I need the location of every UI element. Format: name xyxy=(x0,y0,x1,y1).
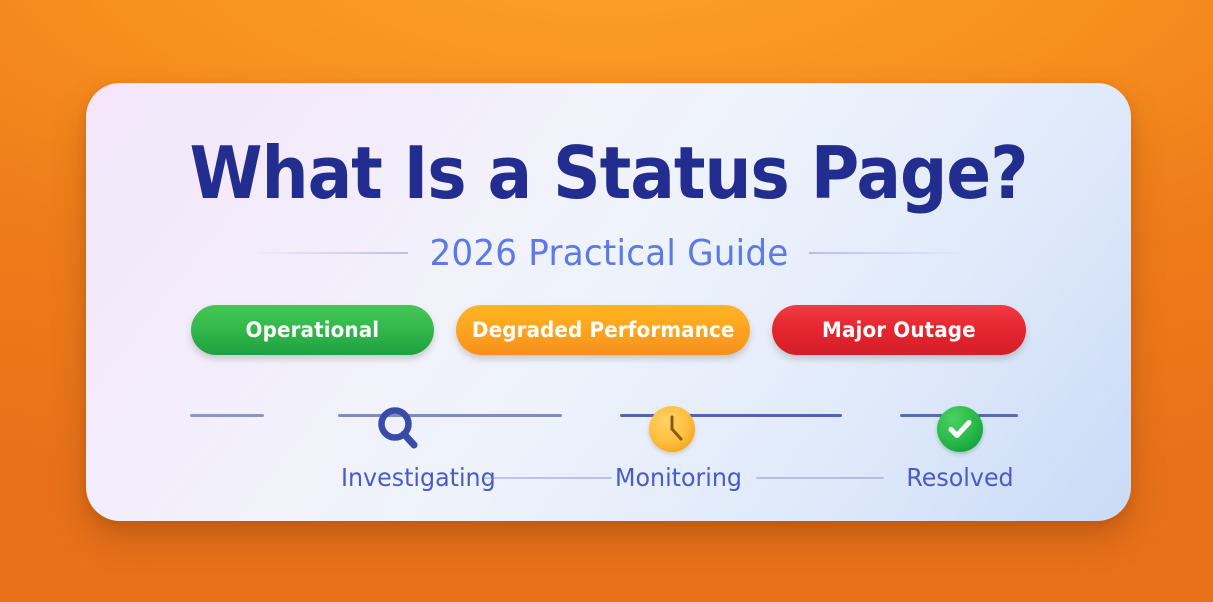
status-badge-label: Major Outage xyxy=(822,318,976,342)
status-page-card: What Is a Status Page? 2026 Practical Gu… xyxy=(86,83,1131,521)
poster-canvas: What Is a Status Page? 2026 Practical Gu… xyxy=(0,0,1213,602)
status-badge-label: Operational xyxy=(246,318,380,342)
timeline-connector-segment xyxy=(190,414,264,417)
status-pill-group: Operational Degraded Performance Major O… xyxy=(86,305,1131,355)
clock-hands-icon xyxy=(649,406,695,452)
timeline-label-rules xyxy=(190,477,1020,480)
clock-icon xyxy=(649,406,695,452)
timeline-label-rule xyxy=(484,477,612,479)
timeline-step-icon-wrap xyxy=(612,401,732,457)
page-title: What Is a Status Page? xyxy=(128,137,1089,209)
subtitle-row: 2026 Practical Guide xyxy=(86,231,1131,275)
status-badge-operational[interactable]: Operational xyxy=(191,305,434,355)
status-badge-outage[interactable]: Major Outage xyxy=(772,305,1026,355)
incident-timeline: Investigating Monitoring xyxy=(190,401,1020,501)
magnifying-glass-icon xyxy=(372,403,424,455)
timeline-step-icon-wrap xyxy=(338,401,458,457)
checkmark-icon xyxy=(945,414,975,444)
timeline-step-icon-wrap xyxy=(900,401,1020,457)
status-badge-degraded[interactable]: Degraded Performance xyxy=(456,305,750,355)
page-subtitle: 2026 Practical Guide xyxy=(429,233,788,274)
status-badge-label: Degraded Performance xyxy=(472,318,735,342)
subtitle-rule-right xyxy=(809,252,959,254)
check-circle-icon xyxy=(937,406,983,452)
subtitle-rule-left xyxy=(258,252,408,254)
timeline-label-rule xyxy=(756,477,884,479)
